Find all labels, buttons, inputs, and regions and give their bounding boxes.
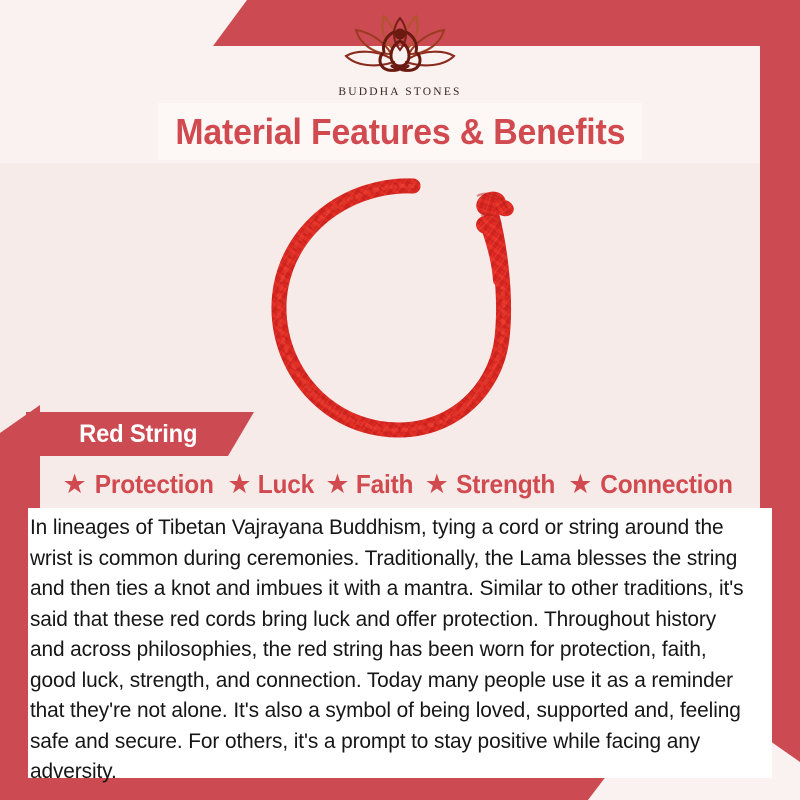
brand-name: BUDDHA STONES bbox=[0, 86, 800, 98]
lotus-meditation-icon bbox=[0, 10, 800, 84]
page-title: Material Features & Benefits bbox=[175, 111, 625, 153]
benefits-row: ★ Protection ★ Luck ★ Faith ★ Strength ★… bbox=[0, 464, 800, 504]
benefit-label: Faith bbox=[355, 469, 412, 500]
benefit-label: Strength bbox=[456, 469, 555, 500]
star-icon: ★ bbox=[63, 471, 87, 498]
benefit-label: Protection bbox=[95, 469, 214, 500]
benefit-label: Connection bbox=[601, 469, 734, 500]
product-hero-image bbox=[255, 168, 555, 458]
description-paragraph: In lineages of Tibetan Vajrayana Buddhis… bbox=[28, 508, 750, 787]
benefit-item-luck: ★ Luck bbox=[227, 469, 315, 500]
poster-canvas: BUDDHA STONES Material Features & Benefi… bbox=[0, 0, 800, 800]
description-panel: In lineages of Tibetan Vajrayana Buddhis… bbox=[28, 508, 772, 778]
benefit-item-connection: ★ Connection bbox=[568, 469, 737, 500]
benefit-item-protection: ★ Protection bbox=[63, 469, 218, 500]
star-icon: ★ bbox=[227, 471, 251, 498]
benefit-item-strength: ★ Strength bbox=[425, 469, 559, 500]
brand-logo: BUDDHA STONES bbox=[0, 10, 800, 98]
benefit-item-faith: ★ Faith bbox=[325, 469, 414, 500]
star-icon: ★ bbox=[568, 471, 592, 498]
star-icon: ★ bbox=[425, 471, 449, 498]
material-label: Red String bbox=[79, 420, 197, 449]
material-ribbon: Red String bbox=[26, 412, 254, 456]
red-braided-cord-bracelet-icon bbox=[255, 168, 555, 458]
star-icon: ★ bbox=[325, 471, 349, 498]
page-title-band: Material Features & Benefits bbox=[158, 103, 642, 160]
benefit-label: Luck bbox=[257, 469, 313, 500]
